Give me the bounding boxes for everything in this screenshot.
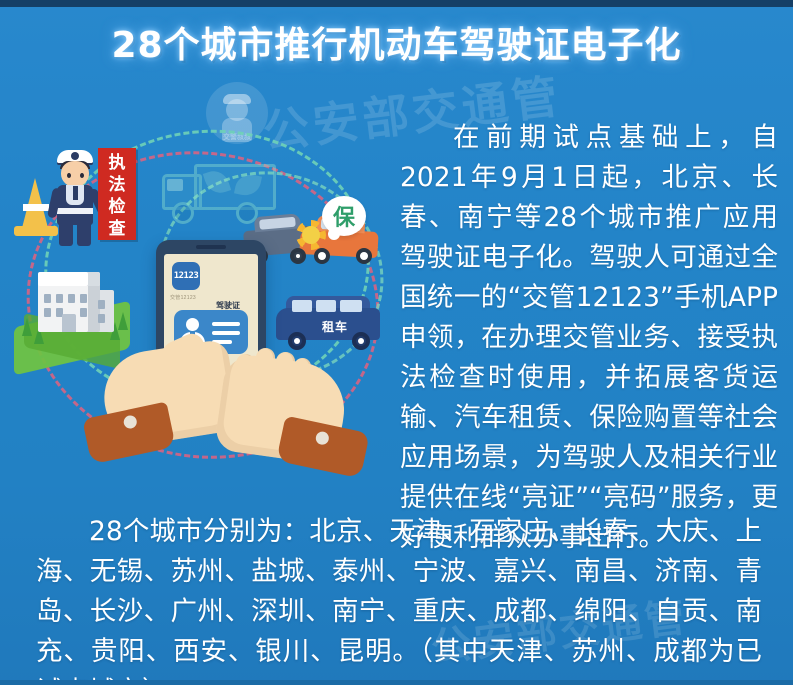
main-paragraph: 在前期试点基础上，自2021年9月1日起，北京、长春、南宁等28个城市推广应用驾… (400, 118, 778, 558)
building-window-2 (56, 294, 63, 303)
police-tie (73, 186, 78, 200)
collision-spark-icon (296, 220, 326, 250)
van-wheel-rear (352, 332, 370, 350)
building-window-8 (98, 300, 105, 309)
police-leg-left (59, 224, 73, 246)
badge-cap-shape (223, 94, 251, 104)
enforcement-banner: 执 法 检 查 (98, 148, 136, 240)
right-sleeve-cuff (276, 416, 370, 479)
police-head (61, 161, 89, 187)
app-caption: 交管12123 (170, 294, 196, 301)
bottom-edge-strip (0, 680, 793, 685)
van-window-3 (340, 300, 362, 312)
infographic-poster: 28个城市推行机动车驾驶证电子化 公安部交通管 公安部交通管 交警叔叔 (0, 0, 793, 685)
banner-char-1: 执 (98, 152, 136, 174)
building-door (62, 314, 76, 332)
truck-window (167, 179, 183, 191)
building-window-9 (98, 314, 105, 323)
top-edge-strip (0, 0, 793, 7)
banner-char-4: 查 (98, 218, 136, 240)
illustration-stage: 执 法 检 查 (8, 112, 398, 502)
tree-4 (118, 312, 128, 330)
phone-earpiece (196, 245, 226, 249)
crash-wheel-4 (356, 248, 372, 264)
cities-paragraph: 28个城市分别为：北京、天津、石家庄、长春、大庆、上海、无锡、苏州、盐城、泰州、… (36, 512, 762, 685)
truck-wheel-front (172, 202, 194, 224)
app-icon-12123[interactable]: 12123 (172, 262, 200, 290)
building-window-7 (80, 308, 87, 317)
page-title: 28个城市推行机动车驾驶证电子化 (111, 26, 681, 66)
van-window-2 (316, 300, 336, 312)
building-window-3 (68, 294, 75, 303)
license-text-line-1 (212, 322, 240, 326)
government-building-icon (14, 272, 130, 368)
building-window-5 (44, 308, 51, 317)
left-cuff-button (123, 414, 138, 429)
van-window-1 (292, 300, 312, 312)
van-label: 租车 (322, 318, 348, 335)
right-cuff-button (315, 430, 330, 445)
building-roof (38, 272, 100, 286)
crash-wheel-3 (314, 248, 330, 264)
license-text-line-2 (212, 331, 240, 335)
insurance-bubble-icon: 保 (322, 196, 366, 236)
tree-1 (22, 318, 32, 336)
police-eye-left (67, 173, 71, 178)
banner-char-2: 法 (98, 174, 136, 196)
license-avatar-head (186, 318, 199, 331)
page-title-wrap: 28个城市推行机动车驾驶证电子化 (0, 26, 793, 66)
police-belt (57, 208, 93, 214)
police-cap-badge (71, 152, 79, 160)
banner-char-3: 检 (98, 196, 136, 218)
police-leg-right (77, 224, 91, 246)
building-window-4 (80, 294, 87, 303)
crash-wheel-2 (290, 248, 306, 264)
police-eye-right (80, 173, 84, 178)
building-window-1 (44, 294, 51, 303)
